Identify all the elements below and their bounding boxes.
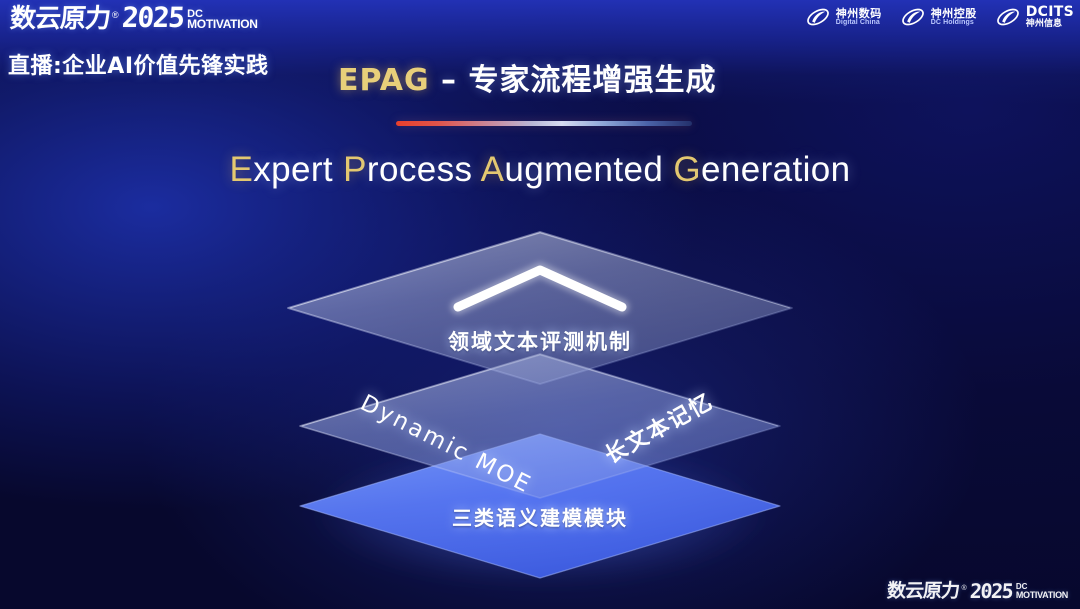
- brand-logo-dc-motivation: DC MOTIVATION: [187, 9, 258, 30]
- partner-name-cn: 神州数码: [836, 8, 882, 20]
- layer-stack-svg: [258, 214, 822, 586]
- footer-brand-registered-mark: ®: [961, 585, 966, 592]
- footer-brand-year: 2025: [969, 581, 1013, 601]
- partner-logo-digital-china: 神州数码 Digital China: [805, 4, 882, 30]
- partner-name-en: 神州信息: [1026, 20, 1074, 29]
- brand-logo-motivation: MOTIVATION: [187, 19, 258, 30]
- footer-brand-cn: 数云原力: [887, 582, 960, 601]
- brand-logo-cn: 数云原力: [9, 6, 111, 32]
- partner-name-cn: DCITS: [1026, 5, 1074, 20]
- footer-brand-dc-motivation: DC MOTIVATION: [1016, 583, 1068, 599]
- partner-logo-text: 神州数码 Digital China: [836, 8, 882, 27]
- partner-logo-text: 神州控股 DC Holdings: [931, 8, 977, 27]
- subtitle-word-augmented: ugmented: [504, 150, 673, 189]
- gradient-divider: [396, 121, 692, 126]
- partner-logo-text: DCITS 神州信息: [1026, 5, 1074, 29]
- swoosh-logo-icon: [805, 4, 831, 30]
- page-title: EPAG – 专家流程增强生成: [338, 55, 716, 99]
- live-stream-title: 直播:企业AI价值先锋实践: [8, 48, 269, 80]
- partner-logo-dcits: DCITS 神州信息: [995, 4, 1074, 30]
- footer-brand-motivation: MOTIVATION: [1016, 591, 1068, 599]
- swoosh-logo-icon: [995, 4, 1021, 30]
- footer-watermark-logo: 数云原力 ® 2025 DC MOTIVATION: [887, 581, 1068, 601]
- subtitle-capital-e: E: [229, 150, 253, 189]
- partner-name-cn: 神州控股: [931, 8, 977, 20]
- partner-logo-group: 神州数码 Digital China 神州控股 DC Holdings: [805, 4, 1074, 30]
- subtitle-capital-g: G: [673, 150, 701, 189]
- subtitle-word-expert: xpert: [253, 150, 343, 189]
- brand-logo-year: 2025: [121, 4, 184, 32]
- page-title-chinese: – 专家流程增强生成: [430, 63, 717, 98]
- page-title-acronym: EPAG: [338, 63, 430, 98]
- partner-name-en: DC Holdings: [931, 19, 977, 26]
- swoosh-logo-icon: [900, 4, 926, 30]
- partner-name-en: Digital China: [836, 19, 882, 26]
- layer-stack-diagram: 领域文本评测机制 Dynamic MOE 长文本记忆 三类语义建模模块: [258, 214, 822, 586]
- brand-logo-registered-mark: ®: [112, 10, 119, 20]
- subtitle-word-generation: eneration: [701, 150, 851, 189]
- slide-header: 数云原力 ® 2025 DC MOTIVATION 直播:企业AI价值先锋实践 …: [0, 0, 1080, 104]
- subtitle-capital-p: P: [343, 150, 367, 189]
- subtitle-word-process: rocess: [367, 150, 481, 189]
- subtitle-capital-a: A: [481, 150, 505, 189]
- layer-top-surface: [288, 232, 792, 384]
- subtitle: Expert Process Augmented Generation: [0, 150, 1080, 190]
- partner-logo-dc-holdings: 神州控股 DC Holdings: [900, 4, 977, 30]
- brand-logo: 数云原力 ® 2025 DC MOTIVATION: [10, 4, 258, 32]
- layer-top[interactable]: [288, 232, 792, 384]
- presentation-slide: 数云原力 ® 2025 DC MOTIVATION 直播:企业AI价值先锋实践 …: [0, 0, 1080, 609]
